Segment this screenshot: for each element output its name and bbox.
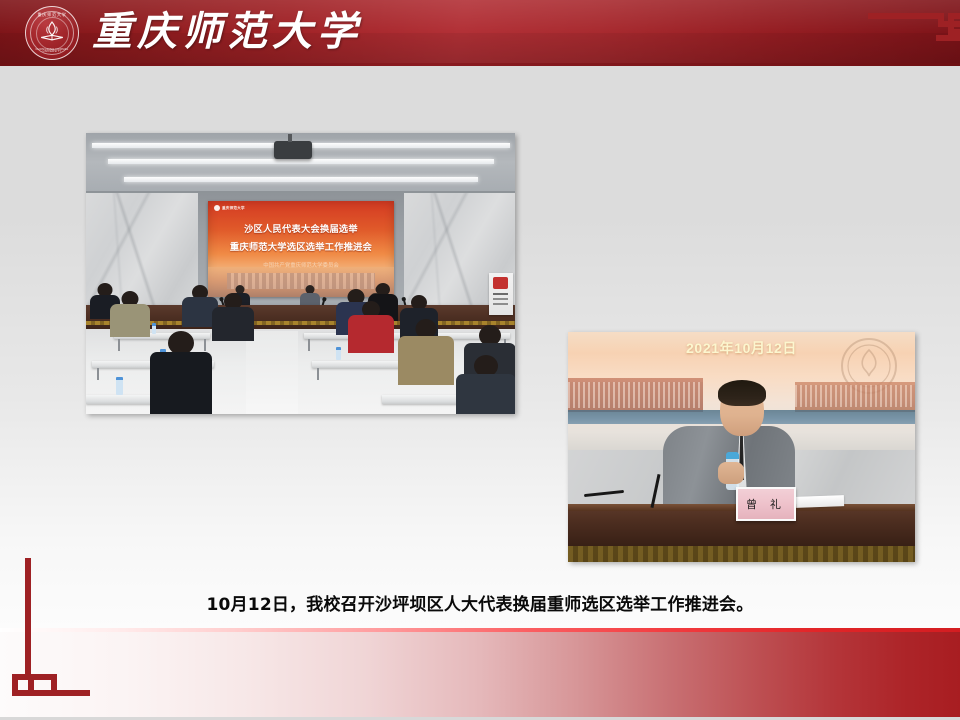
screen-title-line-2: 重庆师范大学选区选举工作推进会 — [208, 239, 394, 253]
center-aisle — [246, 331, 298, 414]
water-bottle — [116, 377, 123, 395]
header-bottom-edge — [0, 63, 960, 66]
projection-screen: 重庆师范大学 沙区人民代表大会换届选举 重庆师范大学选区选举工作推进会 中国共产… — [208, 201, 394, 297]
slide-header-band: 重庆师范大学 CHONGQING NORMAL UNIVERSITY 重庆师范大… — [0, 0, 960, 66]
attendee-torso — [110, 304, 150, 337]
campus-building-left — [568, 378, 703, 412]
table-front-panel — [568, 546, 915, 562]
speaker-photo: 2021年10月12日 曾 礼 — [568, 332, 915, 562]
attendee-2 — [110, 291, 150, 337]
water-bottle — [336, 347, 341, 360]
ornament-bar — [28, 690, 90, 696]
speaker-nameplate-text: 曾 礼 — [746, 496, 786, 512]
ornament-vertical-line — [25, 558, 31, 680]
conference-room-photo: 重庆师范大学 沙区人民代表大会换届选举 重庆师范大学选区选举工作推进会 中国共产… — [86, 133, 515, 414]
side-display-board — [489, 273, 513, 315]
attendee-torso — [212, 307, 254, 341]
footer-accent-line — [0, 628, 960, 632]
seal-arc-top-text: 重庆师范大学 — [26, 13, 78, 17]
seal-arc-bottom-text: CHONGQING NORMAL UNIVERSITY — [26, 49, 78, 54]
ceiling-light-strip — [108, 159, 494, 164]
documents-on-table — [796, 495, 844, 508]
attendee-torso — [348, 315, 394, 353]
audience-desk — [86, 395, 156, 404]
chinese-corner-ornament-bottom-left-icon — [0, 548, 110, 720]
ornament-bar — [936, 35, 960, 41]
screen-logo-label: 重庆师范大学 — [222, 206, 245, 211]
campus-building-right — [795, 382, 915, 412]
slide-footer-band — [0, 628, 960, 720]
ornament-bar — [51, 674, 57, 690]
attendee-7 — [348, 301, 394, 353]
speaker-hands — [718, 462, 744, 484]
attendee-4 — [212, 293, 254, 341]
slide-caption: 10月12日，我校召开沙坪坝区人大代表换届重师选区选举工作推进会。 — [60, 590, 900, 615]
speaker-hair — [718, 380, 766, 406]
ornament-bar — [868, 13, 944, 19]
presentation-slide: 重庆师范大学 CHONGQING NORMAL UNIVERSITY 重庆师范大… — [0, 0, 960, 720]
attendee-torso — [456, 374, 515, 414]
book-and-flame-emblem-icon — [39, 20, 65, 44]
attendee-torso — [398, 336, 454, 385]
ornament-square — [948, 13, 960, 35]
screen-logo: 重庆师范大学 — [214, 205, 245, 211]
attendee-torso — [150, 352, 212, 414]
attendee-12 — [456, 355, 515, 414]
speaker-nameplate: 曾 礼 — [736, 487, 796, 521]
screen-title-line-1: 沙区人民代表大会换届选举 — [208, 221, 394, 235]
screen-logo-mark-icon — [214, 205, 220, 211]
attendee-9 — [398, 319, 454, 385]
ceiling-projector — [274, 141, 312, 159]
ceiling-light-strip — [124, 177, 478, 182]
chinese-corner-ornament-top-right-icon — [856, 0, 960, 170]
attendee-11 — [150, 331, 212, 414]
screen-date-text: 2021年10月12日 — [568, 338, 915, 358]
university-seal-logo: 重庆师范大学 CHONGQING NORMAL UNIVERSITY — [25, 6, 79, 60]
university-name-title: 重庆师范大学 — [92, 2, 362, 62]
